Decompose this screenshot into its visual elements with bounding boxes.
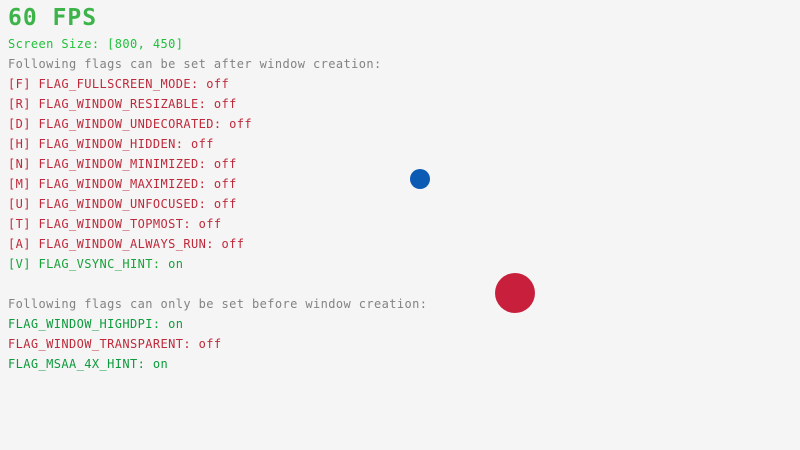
flag-state: off <box>229 117 252 131</box>
flag-state: off <box>191 137 214 151</box>
flag-state: off <box>214 157 237 171</box>
flag-name: FLAG_WINDOW_TRANSPARENT: <box>8 337 199 351</box>
fps-counter: 60 FPS <box>8 5 97 31</box>
flag-hotkey: [U] <box>8 197 39 211</box>
flag-hotkey: [N] <box>8 157 39 171</box>
raylib-window: 60 FPS Screen Size: [800, 450] Following… <box>0 0 800 450</box>
flag-row-flag-window-always-run[interactable]: [A] FLAG_WINDOW_ALWAYS_RUN: off <box>8 237 244 251</box>
flag-row-flag-window-minimized[interactable]: [N] FLAG_WINDOW_MINIMIZED: off <box>8 157 237 171</box>
flag-hotkey: [M] <box>8 177 39 191</box>
screen-size-label: Screen Size: [800, 450] <box>8 37 183 51</box>
flag-name: FLAG_WINDOW_TOPMOST: <box>39 217 199 231</box>
flag-hotkey: [T] <box>8 217 39 231</box>
flag-row-flag-window-maximized[interactable]: [M] FLAG_WINDOW_MAXIMIZED: off <box>8 177 237 191</box>
creation-flag-row-flag-msaa-4x-hint: FLAG_MSAA_4X_HINT: on <box>8 357 168 371</box>
flag-state: off <box>214 97 237 111</box>
flag-state: off <box>199 217 222 231</box>
flag-state: on <box>168 317 183 331</box>
flag-row-flag-vsync-hint[interactable]: [V] FLAG_VSYNC_HINT: on <box>8 257 183 271</box>
hud-layer: 60 FPS Screen Size: [800, 450] Following… <box>0 0 800 450</box>
flag-name: FLAG_MSAA_4X_HINT: <box>8 357 153 371</box>
flag-name: FLAG_WINDOW_RESIZABLE: <box>39 97 214 111</box>
flag-state: off <box>199 337 222 351</box>
flag-name: FLAG_WINDOW_MAXIMIZED: <box>39 177 214 191</box>
flag-hotkey: [V] <box>8 257 39 271</box>
flag-row-flag-window-resizable[interactable]: [R] FLAG_WINDOW_RESIZABLE: off <box>8 97 237 111</box>
flag-hotkey: [D] <box>8 117 39 131</box>
flag-state: off <box>214 197 237 211</box>
flag-row-flag-window-unfocused[interactable]: [U] FLAG_WINDOW_UNFOCUSED: off <box>8 197 237 211</box>
flag-name: FLAG_WINDOW_UNFOCUSED: <box>39 197 214 211</box>
flag-state: off <box>222 237 245 251</box>
flag-state: on <box>153 357 168 371</box>
flag-row-flag-window-topmost[interactable]: [T] FLAG_WINDOW_TOPMOST: off <box>8 217 222 231</box>
flag-state: off <box>214 177 237 191</box>
flag-name: FLAG_WINDOW_HIDDEN: <box>39 137 192 151</box>
creation-flag-row-flag-window-transparent: FLAG_WINDOW_TRANSPARENT: off <box>8 337 222 351</box>
flag-state: on <box>168 257 183 271</box>
flag-name: FLAG_VSYNC_HINT: <box>39 257 169 271</box>
flag-name: FLAG_WINDOW_HIGHDPI: <box>8 317 168 331</box>
flag-name: FLAG_FULLSCREEN_MODE: <box>39 77 207 91</box>
flag-name: FLAG_WINDOW_UNDECORATED: <box>39 117 230 131</box>
flag-hotkey: [F] <box>8 77 39 91</box>
flag-row-flag-window-undecorated[interactable]: [D] FLAG_WINDOW_UNDECORATED: off <box>8 117 252 131</box>
flag-state: off <box>206 77 229 91</box>
runtime-flags-heading: Following flags can be set after window … <box>8 57 382 71</box>
flag-name: FLAG_WINDOW_MINIMIZED: <box>39 157 214 171</box>
flag-name: FLAG_WINDOW_ALWAYS_RUN: <box>39 237 222 251</box>
creation-flags-heading: Following flags can only be set before w… <box>8 297 427 311</box>
flag-row-flag-fullscreen-mode[interactable]: [F] FLAG_FULLSCREEN_MODE: off <box>8 77 229 91</box>
flag-hotkey: [A] <box>8 237 39 251</box>
creation-flag-row-flag-window-highdpi: FLAG_WINDOW_HIGHDPI: on <box>8 317 183 331</box>
flag-hotkey: [H] <box>8 137 39 151</box>
flag-row-flag-window-hidden[interactable]: [H] FLAG_WINDOW_HIDDEN: off <box>8 137 214 151</box>
flag-hotkey: [R] <box>8 97 39 111</box>
